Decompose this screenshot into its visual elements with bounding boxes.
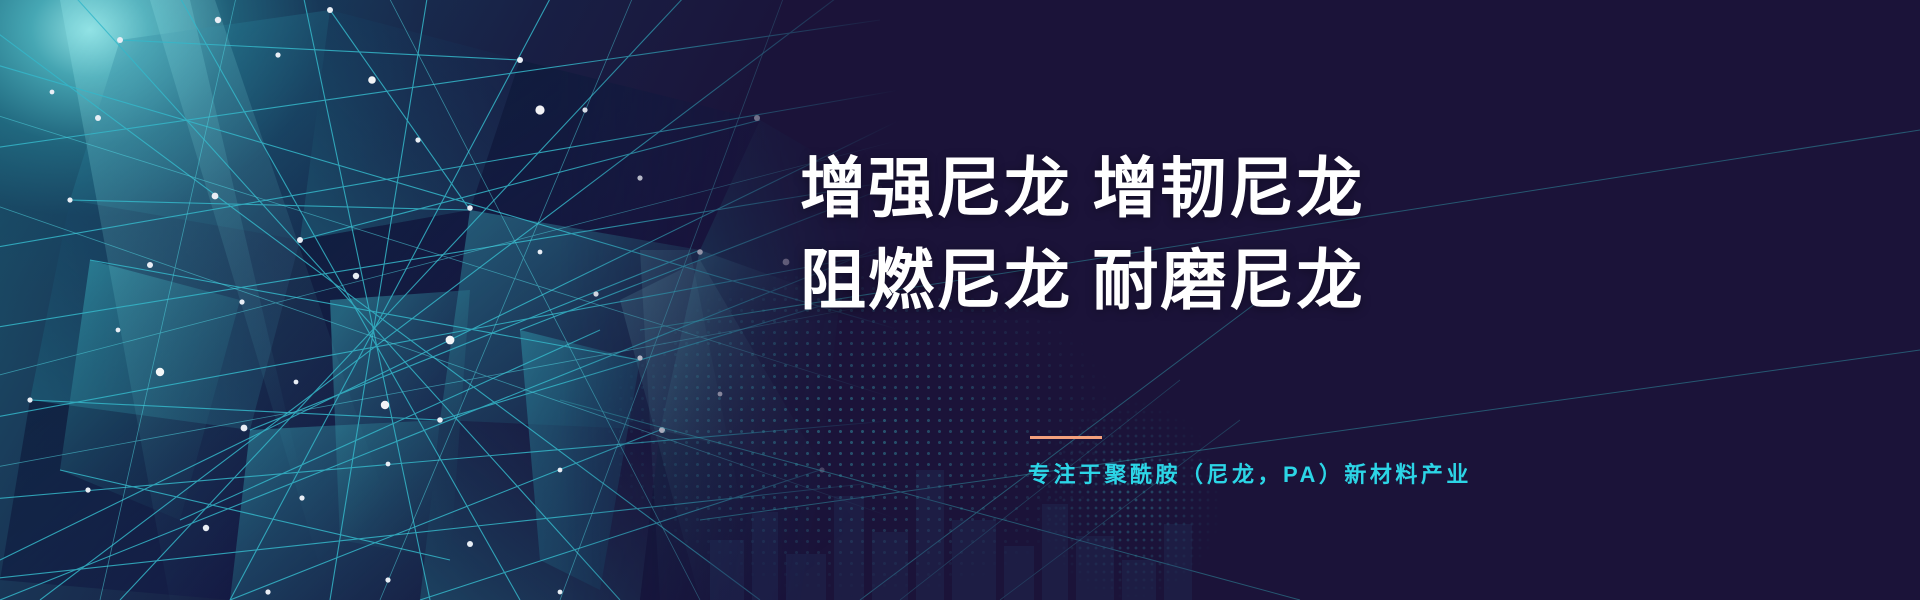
banner-subtitle: 专注于聚酰胺（尼龙，PA）新材料产业 [1028, 457, 1472, 489]
headline-line-1: 增强尼龙 增韧尼龙 [800, 142, 1364, 234]
page-title: 增强尼龙 增韧尼龙 阻燃尼龙 耐磨尼龙 [800, 142, 1364, 326]
hero-banner: 增强尼龙 增韧尼龙 阻燃尼龙 耐磨尼龙 专注于聚酰胺（尼龙，PA）新材料产业 [0, 0, 1920, 600]
headline-line-2: 阻燃尼龙 耐磨尼龙 [800, 234, 1364, 326]
accent-divider [1030, 436, 1102, 439]
banner-content: 增强尼龙 增韧尼龙 阻燃尼龙 耐磨尼龙 专注于聚酰胺（尼龙，PA）新材料产业 [800, 0, 1800, 600]
